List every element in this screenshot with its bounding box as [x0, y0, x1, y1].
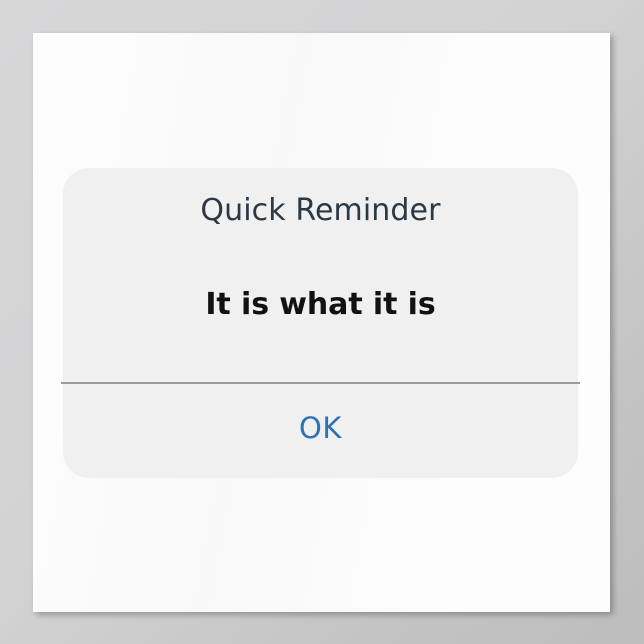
ok-button[interactable]: OK [281, 408, 360, 449]
alert-title: Quick Reminder [63, 194, 578, 229]
poster-scene: Quick Reminder It is what it is OK [0, 0, 644, 644]
alert-message: It is what it is [63, 288, 578, 323]
alert-actions: OK [63, 384, 578, 478]
poster-sheet: Quick Reminder It is what it is OK [33, 33, 610, 612]
alert-divider [61, 382, 580, 384]
alert-dialog: Quick Reminder It is what it is OK [63, 168, 578, 478]
alert-dialog-body: Quick Reminder It is what it is [63, 168, 578, 382]
